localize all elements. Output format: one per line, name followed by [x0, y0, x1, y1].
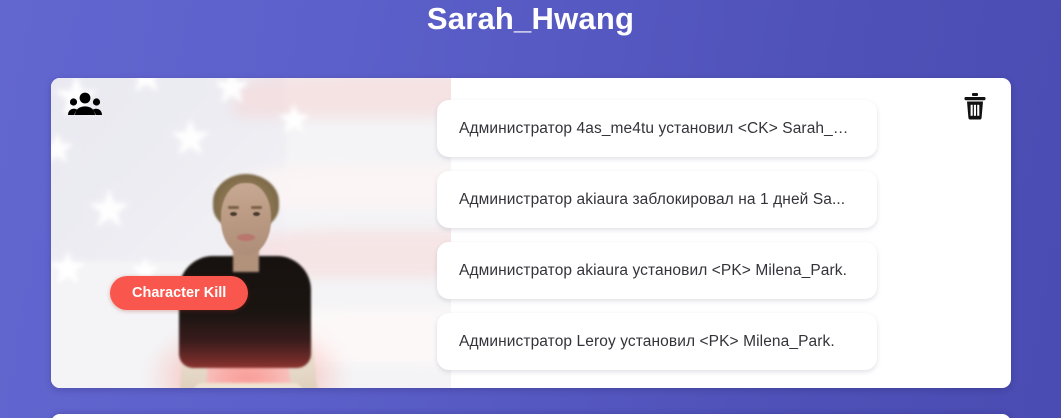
log-entry-text: Администратор Leroy установил <PK> Milen…: [459, 333, 835, 351]
trash-icon[interactable]: [963, 92, 987, 120]
character-avatar: [51, 78, 451, 388]
users-group-icon[interactable]: [68, 90, 102, 118]
next-profile-card[interactable]: [51, 414, 1011, 418]
status-badge: Character Kill: [110, 276, 248, 310]
avatar-eyebrow: [228, 206, 239, 209]
log-entry[interactable]: Администратор akiaura установил <PK> Mil…: [437, 242, 877, 299]
log-entry[interactable]: Администратор akiaura заблокировал на 1 …: [437, 171, 877, 228]
log-entry[interactable]: Администратор Leroy установил <PK> Milen…: [437, 313, 877, 370]
avatar-waist: [194, 383, 302, 388]
log-entry[interactable]: Администратор 4as_me4tu установил <CK> S…: [437, 100, 877, 157]
avatar-panel: ★ ★ ★ ★ ★ ★ ★ ★ ★ ★: [51, 78, 451, 388]
avatar-face: [221, 183, 271, 255]
avatar-eye: [253, 212, 260, 216]
profile-card: ★ ★ ★ ★ ★ ★ ★ ★ ★ ★: [51, 78, 1011, 388]
log-entry-text: Администратор akiaura заблокировал на 1 …: [459, 191, 845, 209]
log-entry-text: Администратор akiaura установил <PK> Mil…: [459, 262, 847, 280]
page-header: Sarah_Hwang: [0, 0, 1061, 62]
avatar-eye: [230, 212, 237, 216]
log-entry-text: Администратор 4as_me4tu установил <CK> S…: [459, 120, 855, 138]
status-badge-label: Character Kill: [132, 285, 226, 301]
admin-log-list: Администратор 4as_me4tu установил <CK> S…: [437, 100, 877, 370]
avatar-eyebrow: [251, 206, 262, 209]
avatar-shirt: [179, 256, 311, 368]
avatar-mouth: [237, 234, 255, 241]
page-title: Sarah_Hwang: [427, 1, 634, 37]
